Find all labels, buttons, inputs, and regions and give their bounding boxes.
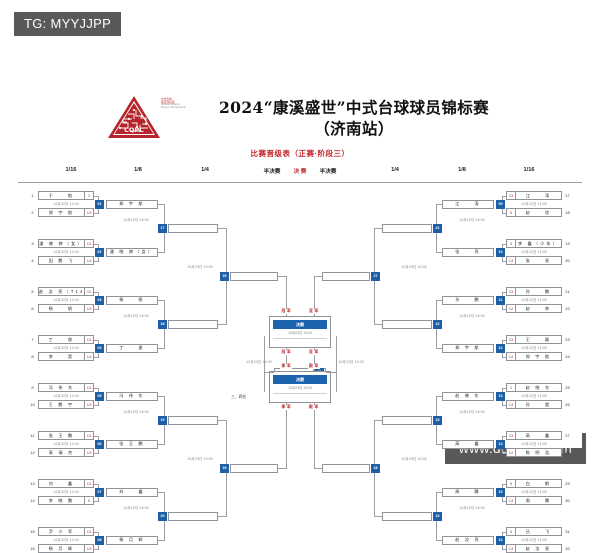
player-name: 赵 晓 东 [443,393,493,399]
player-score: 1 [84,192,93,199]
award-label: 季 军 [280,405,292,410]
player-name: 高 瑞 杰 [39,450,84,456]
r4-winner-28[interactable] [322,464,370,473]
seed-slot-18[interactable]: 9赵 欣 [506,208,562,217]
player-score: 9 [507,209,516,216]
seed-slot-10[interactable]: 王 鹏 宇13 [38,400,94,409]
match-datetime-09: 12月22日 14:00 [506,201,562,206]
third-place-final[interactable]: 季 军殿 军决赛12月23日 14:00季 军殿 军 [269,371,331,404]
player-name: 郑 宇 航 [443,345,493,351]
match-badge-27[interactable]: 27 [371,272,380,281]
seed-slot-19[interactable]: 3李 鑫（少年） [506,239,562,248]
match-badge-08[interactable]: 08 [95,536,104,545]
round-label-right-2: 1/8 [458,167,466,173]
cqpc-logo-icon: CQPC [106,94,162,140]
player-name: 赵 汝 亮 [516,546,561,552]
champion-final[interactable]: 冠 军亚 军决赛12月23日 14:00冠 军亚 军 [269,316,331,349]
award-label: 冠 军 [280,309,292,314]
match-badge-28[interactable]: 28 [371,464,380,473]
match-datetime-02: 12月22日 14:00 [38,249,94,254]
round-label-final: 决 赛 [294,167,307,175]
match-datetime-23: 12月22日 18:00 [446,409,498,414]
player-name: 冯 伟 东 [107,393,157,399]
player-score: 13 [507,192,516,199]
connector-line [314,468,322,469]
match-datetime-08: 12月22日 14:00 [38,537,94,542]
final-bar: 决赛 [273,320,327,329]
seed-number: 14 [28,496,37,505]
match-datetime-17: 12月22日 18:00 [110,217,162,222]
connector-line [218,228,226,229]
match-datetime-14: 12月22日 14:00 [506,441,562,446]
player-score: 13 [507,288,516,295]
seed-slot-4[interactable]: 田 鹏 飞14 [38,256,94,265]
seed-number: 21 [563,287,572,296]
seed-number: 29 [563,479,572,488]
r16-winner-01[interactable]: 郑 宇 航 [106,200,158,209]
connector-line [264,336,265,374]
seed-number: 27 [563,431,572,440]
seed-number: 24 [563,352,572,361]
r16-winner-10[interactable]: 张 亮 [442,248,494,257]
player-name: 张 亮 [443,249,493,255]
player-name: 丁 俊 [39,337,84,343]
player-name: 郑 宇 航 [39,210,84,216]
match-badge-16[interactable]: 16 [496,536,505,545]
seed-slot-13[interactable]: 刘 鑫13 [38,479,94,488]
award-label: 殿 军 [308,405,320,410]
player-score: 4 [507,528,516,535]
seed-slot-1[interactable]: 于 航1 [38,191,94,200]
seed-slot-20[interactable]: 13张 亮 [506,256,562,265]
seed-number: 12 [28,448,37,457]
match-datetime-15: 12月22日 14:00 [506,489,562,494]
player-name: 田 鹏 飞 [39,258,84,264]
match-datetime-26: 12月23日 10:00 [170,456,230,461]
player-score: 13 [84,209,93,216]
player-score: 12 [507,449,516,456]
player-name: 潘 晓 婷（女） [107,249,157,255]
third-place-label: 三、四名 [231,395,246,400]
seed-number: 8 [28,352,37,361]
player-name: 张 玉 鹏 [39,433,84,439]
match-badge-19[interactable]: 19 [158,416,167,425]
final-datetime: 12月23日 14:00 [270,384,330,394]
player-name: 赵 欣 [516,210,561,216]
seed-number: 16 [28,544,37,553]
round-label-left-3: 半决赛 [264,167,281,175]
player-name: 周 腾 [516,498,561,504]
player-score: 13 [84,384,93,391]
final-result-row[interactable] [273,338,327,347]
match-badge-25[interactable]: 25 [220,272,229,281]
match-datetime-21: 12月22日 18:00 [446,217,498,222]
player-score: 14 [84,257,93,264]
match-badge-07[interactable]: 07 [95,488,104,497]
connector-line [278,468,286,469]
match-badge-18[interactable]: 18 [158,320,167,329]
seed-number: 17 [563,191,572,200]
seed-slot-16[interactable]: 杨 月 辉13 [38,544,94,553]
player-name: 高 鑫 [516,433,561,439]
match-datetime-20: 12月22日 18:00 [110,505,162,510]
match-datetime-10: 12月22日 14:00 [506,249,562,254]
seed-slot-32[interactable]: 13赵 汝 亮 [506,544,562,553]
seed-number: 25 [563,383,572,392]
match-datetime-25: 12月23日 10:00 [170,264,230,269]
page-title: 2024“康溪盛世”中式台球球员锦标赛 （济南站） [194,98,514,140]
seed-slot-25[interactable]: 1赵 晓 东 [506,383,562,392]
seed-slot-7[interactable]: 丁 俊13 [38,335,94,344]
player-score: 13 [84,480,93,487]
seed-slot-29[interactable]: 9白 鹤 [506,479,562,488]
player-name: 王 磊 [516,337,561,343]
match-datetime-12: 12月22日 14:00 [506,345,562,350]
seed-slot-11[interactable]: 张 玉 鹏13 [38,431,94,440]
player-name: 赵 汝 亮（T14） [39,289,84,295]
player-score: 13 [84,449,93,456]
r8-winner-20[interactable] [168,512,218,521]
r16-winner-02[interactable]: 潘 晓 婷（女） [106,248,158,257]
seed-number: 4 [28,256,37,265]
player-score: 14 [84,353,93,360]
award-label: 亚 军 [308,350,320,355]
seed-slot-22[interactable]: 12赵 帅 [506,304,562,313]
player-name: 杨 月 辉 [107,537,157,543]
player-score: 13 [84,336,93,343]
match-badge-06[interactable]: 06 [95,440,104,449]
connector-line [374,516,382,517]
player-score: 13 [507,336,516,343]
match-badge-14[interactable]: 14 [496,440,505,449]
player-name: 江 涛 [516,193,561,199]
player-name: 王 鹏 宇 [39,402,84,408]
player-score: 12 [507,305,516,312]
connector-line [218,516,226,517]
connector-line [336,336,337,374]
seed-slot-26[interactable]: 13孙 超 [506,400,562,409]
player-score: 1 [507,384,516,391]
player-score: 3 [507,240,516,247]
player-name: 孙 超 [516,402,561,408]
match-badge-20[interactable]: 20 [158,512,167,521]
award-label: 殿 军 [308,364,320,369]
bracket-canvas: 于 航11郑 宇 航132潘 晓 婷（女）133田 鹏 飞144赵 汝 亮（T1… [18,185,582,440]
connector-line [374,228,382,229]
match-datetime-05: 12月22日 14:00 [38,393,94,398]
player-score: 13 [84,545,93,552]
r16-winner-12[interactable]: 郑 宇 航 [442,344,494,353]
tg-tag: TG: MYYJJPP [14,12,121,36]
final-result-row[interactable] [273,393,327,402]
player-score: 9 [507,480,516,487]
title-sub: （济南站） [194,119,514,140]
seed-number: 7 [28,335,37,344]
seed-number: 18 [563,208,572,217]
player-name: 江 涛 [443,201,493,207]
logo-en-line2: Players Championship [161,107,195,110]
player-score: 13 [507,497,516,504]
player-name: 陈 明 浩 [516,450,561,456]
player-name: 李 鑫（少年） [516,241,561,247]
match-badge-10[interactable]: 10 [496,248,505,257]
match-datetime-28: 12月23日 10:00 [384,456,444,461]
player-score: 11 [84,288,93,295]
connector-line [314,276,322,277]
player-name: 高 鑫 [443,441,493,447]
player-name: 赵 汝 亮 [443,537,493,543]
seed-number: 23 [563,335,572,344]
seed-slot-14[interactable]: 李 晓 鹏9 [38,496,94,505]
award-label: 季 军 [280,364,292,369]
match-badge-01[interactable]: 01 [95,200,104,209]
connector-line [374,420,382,421]
player-score: 13 [507,432,516,439]
r16-winner-13[interactable]: 赵 晓 东 [442,392,494,401]
seed-number: 26 [563,400,572,409]
match-badge-03[interactable]: 03 [95,296,104,305]
r4-winner-25[interactable] [230,272,278,281]
connector-line [326,372,336,373]
r16-winner-11[interactable]: 孙 鹏 [442,296,494,305]
sheet-subtitle: 比赛晋级表（正赛·阶段三） [18,148,582,159]
r16-winner-14[interactable]: 高 鑫 [442,440,494,449]
match-badge-23[interactable]: 23 [433,416,442,425]
match-datetime-07: 12月22日 14:00 [38,489,94,494]
final-bar: 决赛 [273,375,327,384]
player-score: 13 [84,240,93,247]
player-score: 13 [507,545,516,552]
r16-winner-04[interactable]: 丁 俊 [106,344,158,353]
r16-winner-16[interactable]: 赵 汝 亮 [442,536,494,545]
r8-winner-23[interactable] [382,416,432,425]
match-datetime-19: 12月22日 18:00 [110,409,162,414]
seed-slot-8[interactable]: 李 昊14 [38,352,94,361]
seed-slot-2[interactable]: 郑 宇 航13 [38,208,94,217]
player-name: 刘 鑫 [107,489,157,495]
seed-number: 6 [28,304,37,313]
match-badge-17[interactable]: 17 [158,224,167,233]
player-name: 周 腾 [443,489,493,495]
r16-winner-07[interactable]: 刘 鑫 [106,488,158,497]
match-datetime-24: 12月22日 18:00 [446,505,498,510]
final-bottom-awards: 冠 军亚 军 [270,350,330,355]
player-name: 郑 宇 航 [516,354,561,360]
match-badge-21[interactable]: 21 [433,224,442,233]
seed-number: 9 [28,383,37,392]
player-score: 13 [507,257,516,264]
connector-line [278,276,286,277]
r8-winner-19[interactable] [168,416,218,425]
seed-slot-24[interactable]: 14郑 宇 航 [506,352,562,361]
player-score: 13 [84,305,93,312]
player-name: 于 航 [39,193,84,199]
seed-number: 2 [28,208,37,217]
match-badge-04[interactable]: 04 [95,344,104,353]
title-main: 2024“康溪盛世”中式台球球员锦标赛 [194,98,514,119]
seed-slot-31[interactable]: 4吕 飞 [506,527,562,536]
seed-number: 11 [28,431,37,440]
seed-slot-5[interactable]: 赵 汝 亮（T14）11 [38,287,94,296]
round-label-left-2: 1/4 [201,167,209,173]
seed-slot-21[interactable]: 13孙 鹏 [506,287,562,296]
seed-number: 19 [563,239,572,248]
round-label-bar: 1/161/81/4半决赛决 赛半决赛1/41/81/16 [18,167,582,183]
sheet-header: CQPC 中式台球 球员锦标赛 Chinese Billiards Player… [18,78,582,140]
player-name: 杨 月 辉 [39,546,84,552]
seed-number: 1 [28,191,37,200]
r16-winner-05[interactable]: 冯 伟 东 [106,392,158,401]
final-bottom-awards: 季 军殿 军 [270,405,330,410]
seed-number: 15 [28,527,37,536]
r8-winner-21[interactable] [382,224,432,233]
connector-line [264,372,274,373]
match-datetime-04: 12月22日 14:00 [38,345,94,350]
match-datetime-11: 12月22日 14:00 [506,297,562,302]
match-datetime-27: 12月23日 10:00 [384,264,444,269]
match-datetime-22: 12月22日 18:00 [446,313,498,318]
player-score: 13 [84,432,93,439]
r8-winner-22[interactable] [382,320,432,329]
r8-winner-17[interactable] [168,224,218,233]
match-badge-15[interactable]: 15 [496,488,505,497]
player-name: 孙 鹏 [516,289,561,295]
connector-line [336,372,337,392]
seed-slot-15[interactable]: 尹 小 军13 [38,527,94,536]
seed-number: 3 [28,239,37,248]
player-name: 李 昊 [39,354,84,360]
final-top-awards: 冠 军亚 军 [270,309,330,314]
seed-number: 22 [563,304,572,313]
player-name: 郑 宇 航 [107,201,157,207]
final-top-awards: 季 军殿 军 [270,364,330,369]
seed-number: 10 [28,400,37,409]
r16-winner-08[interactable]: 杨 月 辉 [106,536,158,545]
r16-winner-15[interactable]: 周 腾 [442,488,494,497]
round-label-right-3: 1/16 [524,167,535,173]
match-badge-02[interactable]: 02 [95,248,104,257]
player-name: 赵 晓 东 [516,385,561,391]
svg-text:CQPC: CQPC [124,126,144,134]
seed-slot-17[interactable]: 13江 涛 [506,191,562,200]
match-datetime-03: 12月22日 14:00 [38,297,94,302]
round-label-right-0: 半决赛 [320,167,337,175]
player-name: 丁 俊 [107,345,157,351]
r4-winner-27[interactable] [322,272,370,281]
match-badge-09[interactable]: 09 [496,200,505,209]
player-score: 13 [507,401,516,408]
seed-slot-3[interactable]: 潘 晓 婷（女）13 [38,239,94,248]
connector-line [218,324,226,325]
player-score: 14 [507,353,516,360]
player-name: 杨 帆 [107,297,157,303]
round-label-left-0: 1/16 [66,167,77,173]
seed-slot-27[interactable]: 13高 鑫 [506,431,562,440]
round-label-left-1: 1/8 [134,167,142,173]
match-datetime-06: 12月22日 14:00 [38,441,94,446]
seed-slot-30[interactable]: 13周 腾 [506,496,562,505]
seed-number: 28 [563,448,572,457]
match-badge-05[interactable]: 05 [95,392,104,401]
player-name: 杨 帆 [39,306,84,312]
player-name: 刘 鑫 [39,481,84,487]
seed-number: 5 [28,287,37,296]
final-datetime: 12月23日 14:00 [270,329,330,339]
connector-line [264,372,265,392]
player-name: 冯 伟 东 [39,385,84,391]
match-badge-24[interactable]: 24 [433,512,442,521]
connector-line [218,420,226,421]
player-score: 13 [84,401,93,408]
player-name: 李 晓 鹏 [39,498,84,504]
seed-slot-6[interactable]: 杨 帆13 [38,304,94,313]
award-label: 冠 军 [280,350,292,355]
player-name: 张 亮 [516,258,561,264]
bracket-sheet: CQPC 中式台球 球员锦标赛 Chinese Billiards Player… [18,78,582,448]
match-datetime-13: 12月22日 14:00 [506,393,562,398]
seed-slot-12[interactable]: 高 瑞 杰13 [38,448,94,457]
seed-slot-9[interactable]: 冯 伟 东13 [38,383,94,392]
r16-winner-09[interactable]: 江 涛 [442,200,494,209]
player-name: 张 玉 鹏 [107,441,157,447]
seed-slot-28[interactable]: 12陈 明 浩 [506,448,562,457]
player-score: 9 [84,497,93,504]
match-badge-26[interactable]: 26 [220,464,229,473]
seed-number: 20 [563,256,572,265]
player-name: 吕 飞 [516,529,561,535]
match-datetime-18: 12月22日 18:00 [110,313,162,318]
player-name: 尹 小 军 [39,529,84,535]
player-name: 孙 鹏 [443,297,493,303]
seed-number: 13 [28,479,37,488]
match-badge-11[interactable]: 11 [496,296,505,305]
seed-number: 32 [563,544,572,553]
r4-winner-26[interactable] [230,464,278,473]
match-badge-12[interactable]: 12 [496,344,505,353]
connector-line [374,324,382,325]
r8-winner-18[interactable] [168,320,218,329]
player-name: 赵 帅 [516,306,561,312]
round-label-right-1: 1/4 [391,167,399,173]
seed-number: 30 [563,496,572,505]
match-datetime-01: 12月22日 14:00 [38,201,94,206]
match-badge-22[interactable]: 22 [433,320,442,329]
r8-winner-24[interactable] [382,512,432,521]
seed-number: 31 [563,527,572,536]
award-label: 亚 军 [308,309,320,314]
r16-winner-03[interactable]: 杨 帆 [106,296,158,305]
match-datetime-16: 12月22日 14:00 [506,537,562,542]
seed-slot-23[interactable]: 13王 磊 [506,335,562,344]
player-name: 潘 晓 婷（女） [39,241,84,247]
r16-winner-06[interactable]: 张 玉 鹏 [106,440,158,449]
player-score: 13 [84,528,93,535]
logo-wordmark: 中式台球 球员锦标赛 Chinese Billiards Players Cha… [161,98,195,110]
player-name: 白 鹤 [516,481,561,487]
match-badge-13[interactable]: 13 [496,392,505,401]
